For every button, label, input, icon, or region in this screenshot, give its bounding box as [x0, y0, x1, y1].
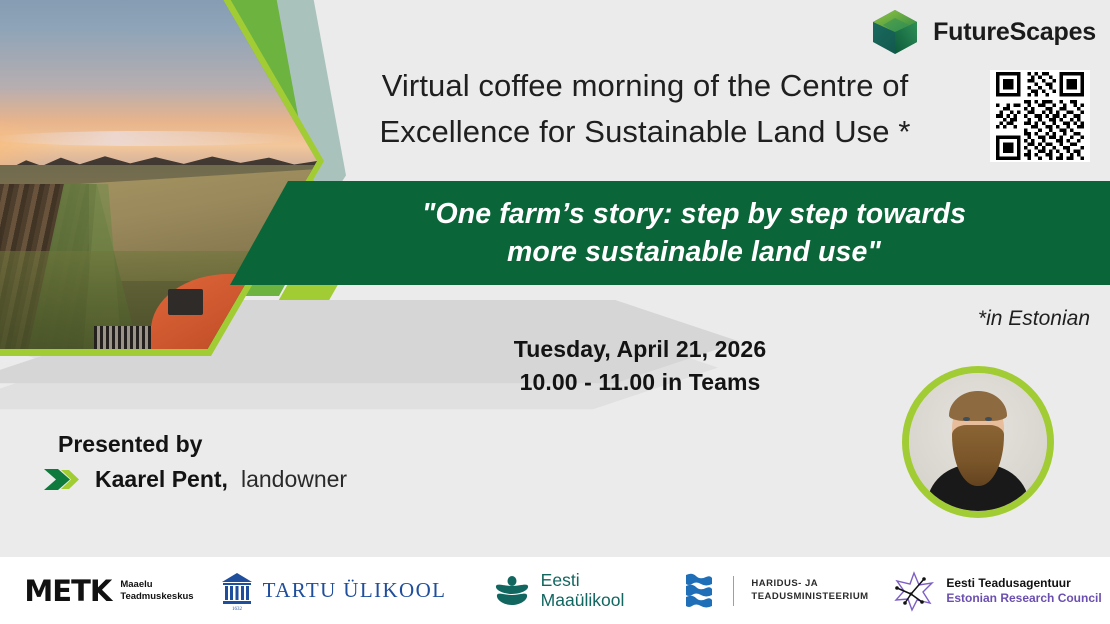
presenter-role: landowner — [241, 466, 347, 493]
metk-wordmark: METK — [24, 574, 111, 608]
htm-wordmark: HARIDUS- JA TEADUSMINISTEERIUM — [751, 578, 868, 604]
event-datetime: Tuesday, April 21, 2026 10.00 - 11.00 in… — [420, 333, 860, 398]
star-burst-icon — [891, 570, 937, 612]
logo-eesti-teadusagentuur: Eesti Teadusagentuur Estonian Research C… — [883, 557, 1110, 624]
emu-wordmark: Eesti Maaülikool — [541, 571, 625, 610]
estonian-lions-crest-icon — [682, 571, 716, 611]
headline-line-2: Excellence for Sustainable Land Use * — [300, 109, 990, 155]
talk-title-line-1: "One farm’s story: step by step towards — [422, 195, 966, 233]
page-title: Virtual coffee morning of the Centre of … — [300, 63, 990, 154]
language-note: *in Estonian — [978, 307, 1090, 331]
talk-title-banner: "One farm’s story: step by step towards … — [230, 181, 1110, 285]
event-time: 10.00 - 11.00 in Teams — [420, 366, 860, 399]
etag-wordmark: Eesti Teadusagentuur Estonian Research C… — [946, 576, 1101, 605]
logo-tartu-ulikool: 1632 TARTU ÜLIKOOL — [218, 557, 448, 624]
svg-text:1632: 1632 — [232, 607, 243, 611]
logo-eesti-maaulikool: Eesti Maaülikool — [448, 557, 668, 624]
leaf-book-icon — [492, 573, 532, 609]
hexagon-cube-icon — [869, 8, 921, 56]
footer-logo-bar: METK Maaelu Teadmuskeskus 1632 — [0, 557, 1110, 624]
brand-name: FutureScapes — [933, 18, 1096, 47]
hero-field-photo — [0, 0, 317, 349]
presenter-row: Kaarel Pent, landowner — [44, 466, 347, 493]
presented-by-label: Presented by — [58, 431, 202, 458]
presenter-avatar — [902, 366, 1054, 518]
presenter-name: Kaarel Pent, — [95, 466, 228, 493]
hero-photo-hexagon — [0, 0, 324, 356]
logo-divider — [733, 576, 734, 606]
headline-line-1: Virtual coffee morning of the Centre of — [300, 63, 990, 109]
tartu-wordmark: TARTU ÜLIKOOL — [263, 578, 447, 603]
qr-code[interactable] — [990, 70, 1090, 162]
event-date: Tuesday, April 21, 2026 — [420, 333, 860, 366]
logo-haridus-ja-teadusministeerium: HARIDUS- JA TEADUSMINISTEERIUM — [668, 557, 883, 624]
double-chevron-icon — [44, 468, 82, 491]
event-poster: FutureScapes Virtual coffee morning of t… — [0, 0, 1110, 624]
metk-subtitle: Maaelu Teadmuskeskus — [120, 579, 193, 602]
talk-title-line-2: more sustainable land use" — [422, 233, 966, 271]
university-building-icon: 1632 — [220, 571, 254, 611]
logo-metk: METK Maaelu Teadmuskeskus — [0, 557, 218, 624]
brand-lockup: FutureScapes — [869, 8, 1096, 56]
